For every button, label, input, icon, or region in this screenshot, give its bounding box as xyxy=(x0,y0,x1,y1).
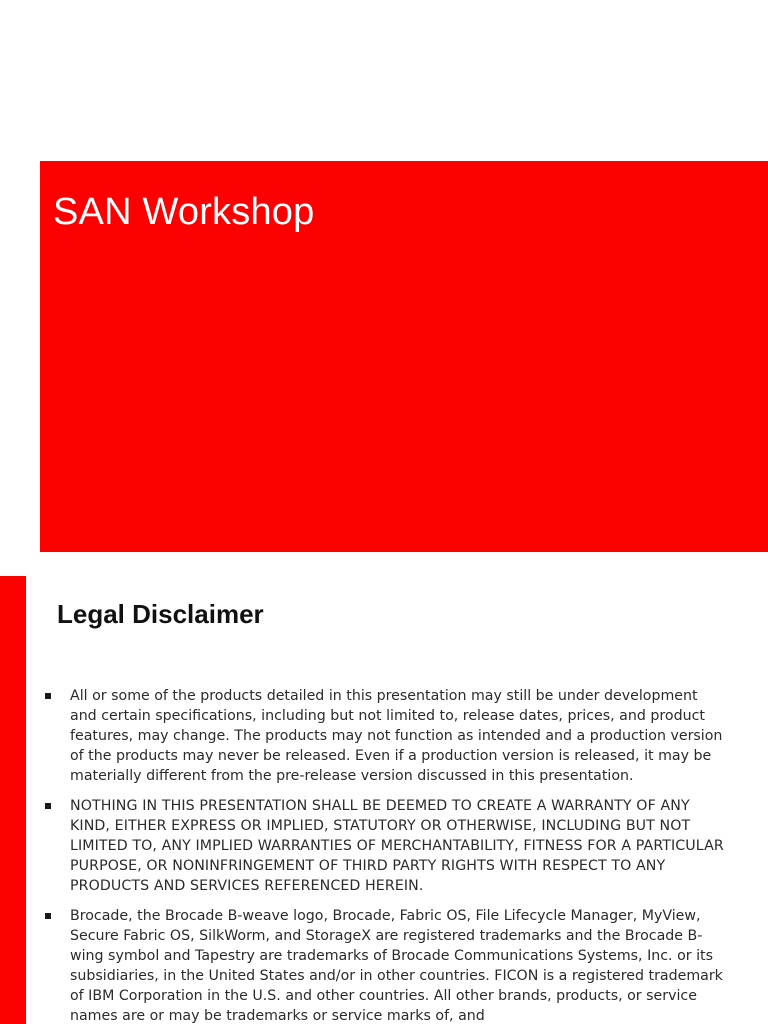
list-item-text: NOTHING IN THIS PRESENTATION SHALL BE DE… xyxy=(70,796,728,896)
slide-title-text: SAN Workshop xyxy=(53,189,314,235)
title-slide: SAN Workshop xyxy=(40,161,768,552)
list-item: All or some of the products detailed in … xyxy=(40,686,728,786)
legal-disclaimer-slide: Legal Disclaimer All or some of the prod… xyxy=(0,576,768,1024)
list-item-text: All or some of the products detailed in … xyxy=(70,686,728,786)
legal-disclaimer-body: All or some of the products detailed in … xyxy=(40,686,728,1024)
legal-disclaimer-heading: Legal Disclaimer xyxy=(57,598,264,630)
bullet-square-icon xyxy=(45,803,51,809)
bullet-square-icon xyxy=(45,913,51,919)
list-item-text: Brocade, the Brocade B-weave logo, Broca… xyxy=(70,906,728,1024)
document-page: SAN Workshop Legal Disclaimer All or som… xyxy=(0,0,768,1024)
slide-accent-bar xyxy=(0,576,26,1024)
bullet-square-icon xyxy=(45,693,51,699)
list-item: Brocade, the Brocade B-weave logo, Broca… xyxy=(40,906,728,1024)
list-item: NOTHING IN THIS PRESENTATION SHALL BE DE… xyxy=(40,796,728,896)
